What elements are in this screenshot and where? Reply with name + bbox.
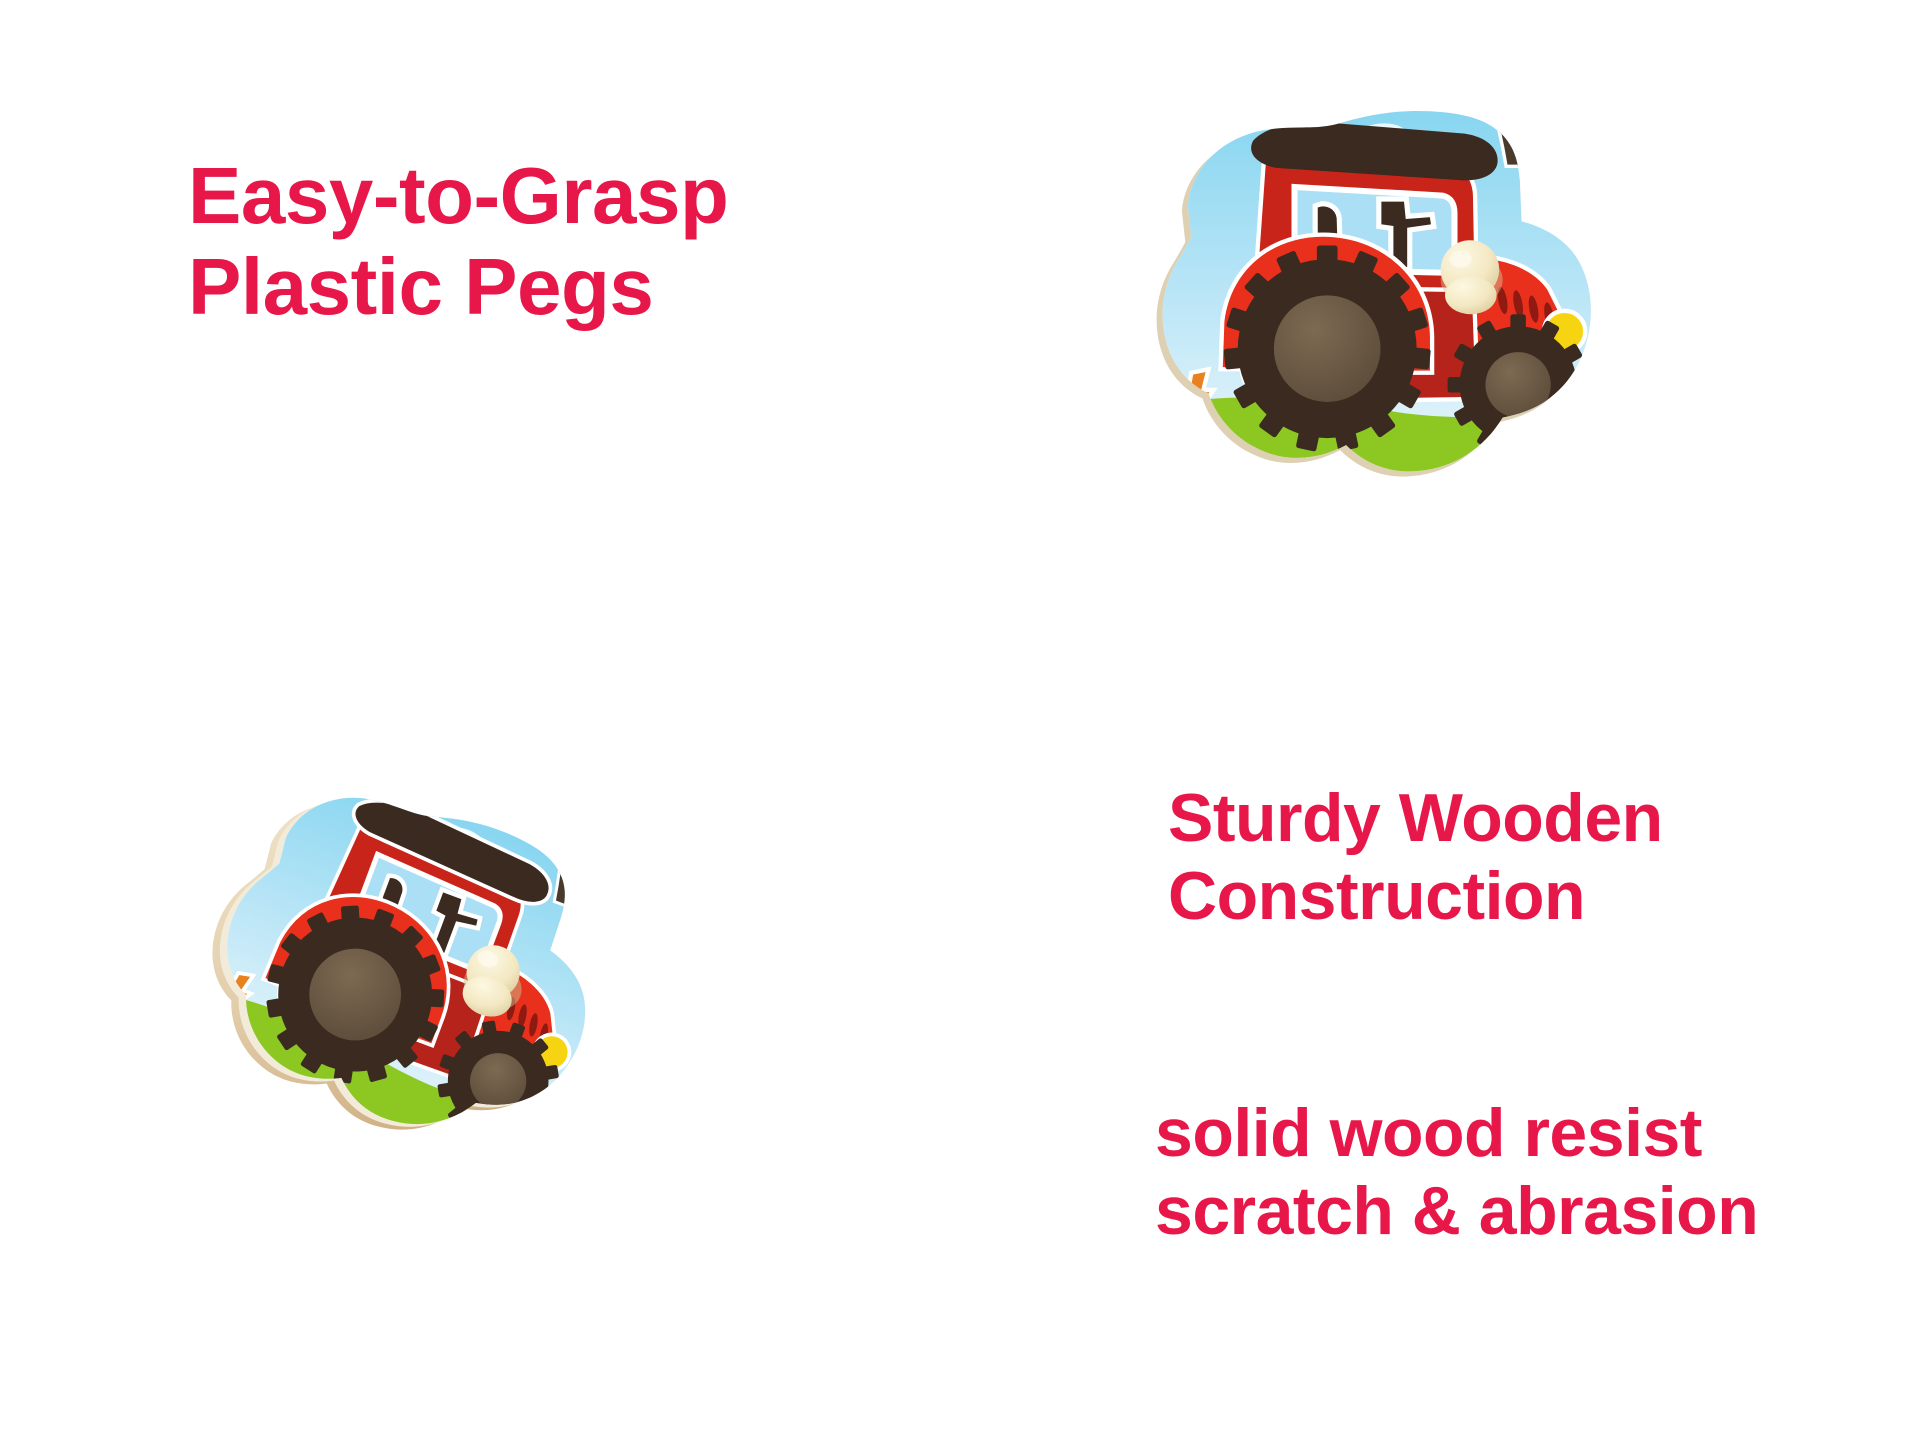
tire-hub [1485,352,1550,417]
product-image-tractor-bottom [115,700,682,1228]
feature-text-solid-wood: solid wood resist scratch & abrasion [1155,1095,1758,1250]
tire-hub [1274,295,1381,402]
feature-text-sturdy-wooden: Sturdy Wooden Construction [1168,780,1663,935]
product-feature-graphic: Easy-to-Grasp Plastic Pegs Sturdy Wooden… [0,0,1920,1440]
product-image-tractor-top [1095,70,1628,526]
feature-text-easy-grasp: Easy-to-Grasp Plastic Pegs [188,150,728,332]
